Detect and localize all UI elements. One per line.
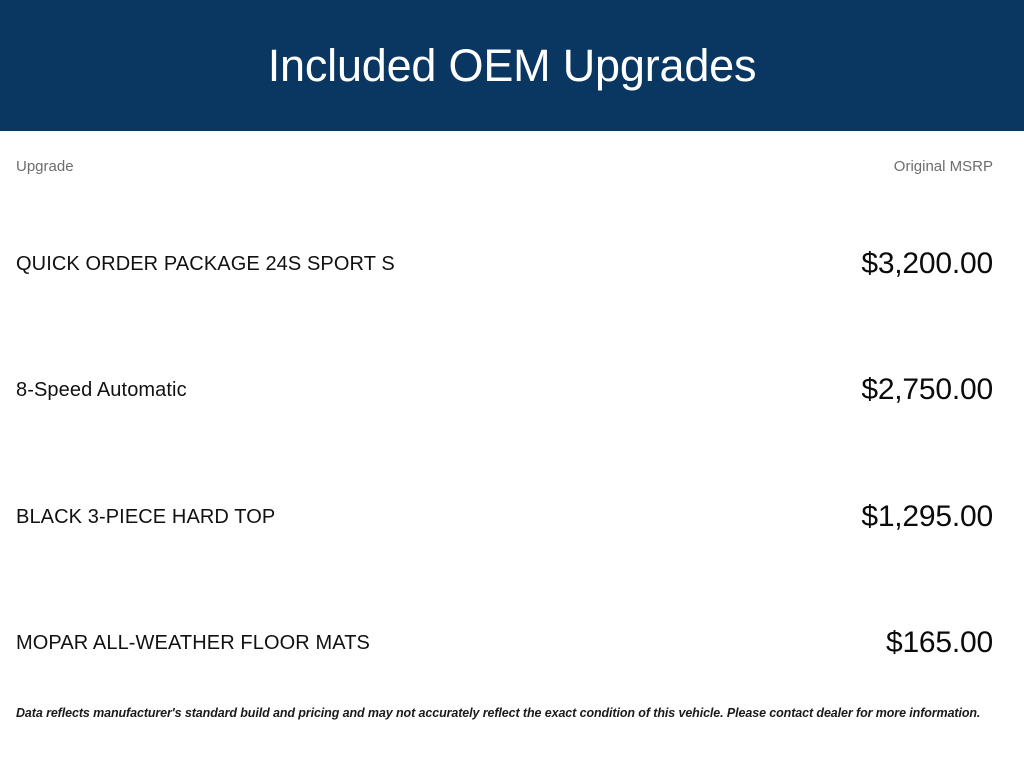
upgrade-name: MOPAR ALL-WEATHER FLOOR MATS — [16, 631, 886, 655]
upgrade-name: QUICK ORDER PACKAGE 24S SPORT S — [16, 252, 861, 276]
table-row: QUICK ORDER PACKAGE 24S SPORT S $3,200.0… — [16, 201, 993, 327]
page-header-banner: Included OEM Upgrades — [0, 0, 1024, 131]
upgrade-name: 8-Speed Automatic — [16, 378, 861, 402]
upgrade-price: $1,295.00 — [861, 499, 993, 535]
disclaimer-section: Data reflects manufacturer's standard bu… — [0, 706, 1024, 768]
disclaimer-text: Data reflects manufacturer's standard bu… — [16, 706, 980, 721]
upgrade-price: $3,200.00 — [861, 246, 993, 282]
page-title: Included OEM Upgrades — [268, 41, 757, 91]
table-body: QUICK ORDER PACKAGE 24S SPORT S $3,200.0… — [16, 201, 993, 706]
upgrade-price: $165.00 — [886, 625, 993, 661]
table-header-row: Upgrade Original MSRP — [16, 131, 993, 201]
table-row: 8-Speed Automatic $2,750.00 — [16, 327, 993, 453]
upgrades-table: Upgrade Original MSRP QUICK ORDER PACKAG… — [0, 131, 1024, 706]
column-header-original-msrp: Original MSRP — [894, 159, 993, 174]
table-row: MOPAR ALL-WEATHER FLOOR MATS $165.00 — [16, 580, 993, 706]
upgrade-name: BLACK 3-PIECE HARD TOP — [16, 505, 861, 529]
upgrade-price: $2,750.00 — [861, 372, 993, 408]
column-header-upgrade: Upgrade — [16, 159, 894, 174]
oem-upgrades-page: Included OEM Upgrades Upgrade Original M… — [0, 0, 1024, 768]
table-row: BLACK 3-PIECE HARD TOP $1,295.00 — [16, 454, 993, 580]
